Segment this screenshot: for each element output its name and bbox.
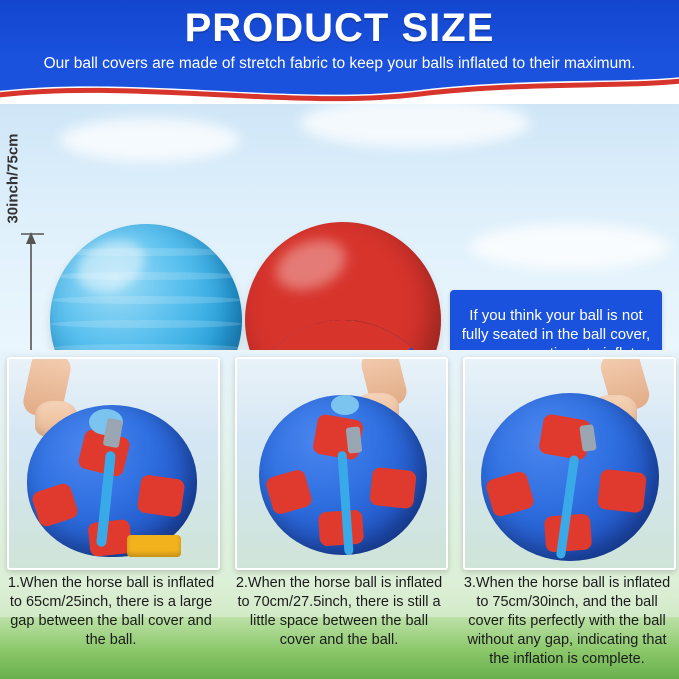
step-image-2 — [235, 357, 448, 570]
inflate-callout-box: If you think your ball is not fully seat… — [450, 290, 662, 350]
beach-ball-image — [245, 222, 441, 350]
cloud-decoration — [300, 104, 530, 148]
size-comparison-panel: 30inch/75cm 30inch/75cm — [0, 104, 679, 350]
cloud-decoration — [470, 224, 670, 270]
exercise-ball-image — [50, 224, 242, 350]
steps-panel: 1.When the horse ball is inflated to 65c… — [0, 352, 679, 679]
header-subtitle: Our ball covers are made of stretch fabr… — [38, 54, 641, 74]
header-banner: PRODUCT SIZE Our ball covers are made of… — [0, 0, 679, 104]
vertical-dimension-arrow-icon — [18, 232, 44, 350]
step-image-3 — [463, 357, 676, 570]
page-title: PRODUCT SIZE — [0, 6, 679, 51]
inflate-callout-text: If you think your ball is not fully seat… — [450, 306, 662, 351]
vertical-dimension-label: 30inch/75cm — [5, 104, 22, 254]
cloud-decoration — [60, 118, 240, 162]
step-caption-3: 3.When the horse ball is inflated to 75c… — [459, 574, 675, 669]
step-caption-1: 1.When the horse ball is inflated to 65c… — [3, 574, 219, 650]
step-caption-2: 2.When the horse ball is inflated to 70c… — [231, 574, 447, 650]
wave-divider-icon — [0, 72, 679, 104]
product-size-infographic: PRODUCT SIZE Our ball covers are made of… — [0, 0, 679, 679]
step-image-1 — [7, 357, 220, 570]
